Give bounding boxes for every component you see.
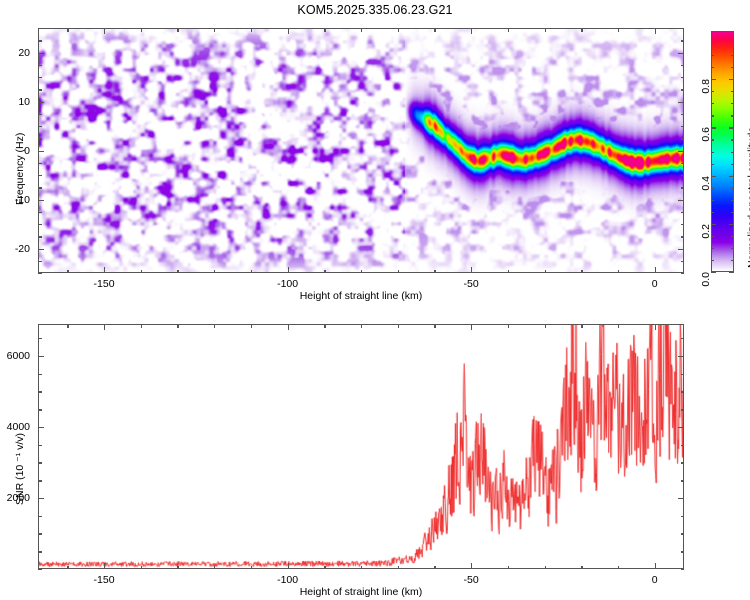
- colorbar-tick-label: 0.4: [700, 176, 712, 191]
- y-minor-tick: [681, 175, 685, 176]
- x-minor-tick: [434, 270, 435, 274]
- y-minor-tick: [681, 445, 685, 446]
- x-tick-label: -150: [94, 574, 115, 586]
- x-minor-tick: [398, 270, 399, 274]
- x-minor-tick: [508, 566, 509, 570]
- x-minor-tick: [434, 566, 435, 570]
- colorbar-minor-tick: [731, 43, 734, 44]
- colorbar-minor-tick: [731, 200, 734, 201]
- x-minor-tick: [251, 270, 252, 274]
- y-major-tick: [678, 249, 684, 250]
- y-minor-tick: [38, 40, 42, 41]
- x-major-tick: [288, 267, 289, 273]
- y-major-tick: [678, 498, 684, 499]
- colorbar-minor-tick: [711, 115, 714, 116]
- x-tick-label: -50: [464, 574, 479, 586]
- y-minor-tick: [681, 551, 685, 552]
- y-major-tick: [678, 53, 684, 54]
- x-minor-tick: [251, 324, 252, 328]
- colorbar-minor-tick: [731, 115, 734, 116]
- y-major-tick: [38, 427, 44, 428]
- y-major-tick: [38, 53, 44, 54]
- colorbar-minor-tick: [711, 43, 714, 44]
- colorbar-tick-label: 0.8: [700, 79, 712, 94]
- y-minor-tick: [681, 126, 685, 127]
- colorbar-minor-tick: [711, 55, 714, 56]
- y-minor-tick: [38, 212, 42, 213]
- x-minor-tick: [545, 566, 546, 570]
- y-minor-tick: [681, 114, 685, 115]
- y-minor-tick: [681, 163, 685, 164]
- y-minor-tick: [38, 480, 42, 481]
- snr-trace: [39, 325, 683, 568]
- y-minor-tick: [38, 551, 42, 552]
- x-major-tick: [288, 28, 289, 34]
- y-minor-tick: [681, 462, 685, 463]
- colorbar-minor-tick: [711, 200, 714, 201]
- colorbar-minor-tick: [731, 139, 734, 140]
- y-minor-tick: [38, 261, 42, 262]
- x-minor-tick: [324, 324, 325, 328]
- y-minor-tick: [681, 65, 685, 66]
- y-minor-tick: [38, 126, 42, 127]
- colorbar-tick-label: 0.2: [700, 224, 712, 239]
- x-tick-label: 0: [652, 278, 658, 290]
- colorbar-major-tick: [729, 127, 734, 128]
- y-minor-tick: [681, 374, 685, 375]
- colorbar-label: Normalized spectral amplitude: [746, 127, 750, 268]
- x-minor-tick: [177, 324, 178, 328]
- x-minor-tick: [618, 270, 619, 274]
- y-minor-tick: [681, 28, 685, 29]
- y-major-tick: [38, 200, 44, 201]
- colorbar-minor-tick: [711, 164, 714, 165]
- y-tick-label: 6000: [7, 350, 30, 362]
- colorbar-minor-tick: [711, 31, 714, 32]
- y-major-tick: [678, 200, 684, 201]
- y-minor-tick: [681, 409, 685, 410]
- colorbar-gradient: [712, 32, 733, 271]
- y-minor-tick: [38, 224, 42, 225]
- colorbar-minor-tick: [711, 103, 714, 104]
- x-minor-tick: [508, 270, 509, 274]
- colorbar-minor-tick: [731, 67, 734, 68]
- y-minor-tick: [38, 163, 42, 164]
- x-minor-tick: [398, 566, 399, 570]
- colorbar-minor-tick: [731, 260, 734, 261]
- y-major-tick: [678, 356, 684, 357]
- x-major-tick: [655, 324, 656, 330]
- x-minor-tick: [214, 28, 215, 32]
- y-minor-tick: [38, 89, 42, 90]
- x-minor-tick: [618, 324, 619, 328]
- y-major-tick: [38, 249, 44, 250]
- x-minor-tick: [214, 566, 215, 570]
- x-major-tick: [104, 563, 105, 569]
- colorbar-major-tick: [729, 272, 734, 273]
- y-minor-tick: [38, 374, 42, 375]
- x-minor-tick: [361, 28, 362, 32]
- x-major-tick: [655, 28, 656, 34]
- spectrogram-plot: [38, 28, 684, 273]
- y-minor-tick: [681, 212, 685, 213]
- y-major-tick: [678, 427, 684, 428]
- x-major-tick: [471, 324, 472, 330]
- x-minor-tick: [434, 324, 435, 328]
- snr-x-axis-label: Height of straight line (km): [300, 586, 423, 598]
- colorbar-minor-tick: [711, 212, 714, 213]
- colorbar-minor-tick: [711, 248, 714, 249]
- x-minor-tick: [545, 270, 546, 274]
- spectrogram-image: [39, 29, 683, 272]
- colorbar-minor-tick: [731, 212, 734, 213]
- x-minor-tick: [324, 270, 325, 274]
- x-tick-label: -100: [277, 574, 298, 586]
- x-tick-label: -150: [94, 278, 115, 290]
- snr-y-axis-label: SNR (10 ⁻¹ v/v): [14, 433, 26, 505]
- colorbar-minor-tick: [731, 164, 734, 165]
- x-tick-label: 0: [652, 574, 658, 586]
- x-minor-tick: [361, 324, 362, 328]
- x-tick-label: -50: [464, 278, 479, 290]
- y-minor-tick: [681, 236, 685, 237]
- x-minor-tick: [434, 28, 435, 32]
- y-minor-tick: [38, 236, 42, 237]
- y-minor-tick: [681, 516, 685, 517]
- x-tick-label: -100: [277, 278, 298, 290]
- y-minor-tick: [38, 187, 42, 188]
- y-minor-tick: [681, 391, 685, 392]
- x-major-tick: [288, 324, 289, 330]
- y-minor-tick: [38, 409, 42, 410]
- y-minor-tick: [681, 261, 685, 262]
- colorbar-minor-tick: [731, 188, 734, 189]
- colorbar-minor-tick: [731, 55, 734, 56]
- x-minor-tick: [361, 270, 362, 274]
- x-minor-tick: [177, 566, 178, 570]
- x-minor-tick: [545, 324, 546, 328]
- y-minor-tick: [38, 65, 42, 66]
- y-major-tick: [678, 151, 684, 152]
- y-minor-tick: [38, 138, 42, 139]
- y-minor-tick: [681, 40, 685, 41]
- y-minor-tick: [38, 445, 42, 446]
- colorbar-minor-tick: [731, 91, 734, 92]
- y-minor-tick: [38, 533, 42, 534]
- x-minor-tick: [324, 28, 325, 32]
- x-major-tick: [471, 28, 472, 34]
- x-minor-tick: [214, 324, 215, 328]
- x-minor-tick: [67, 566, 68, 570]
- y-minor-tick: [681, 89, 685, 90]
- x-minor-tick: [508, 324, 509, 328]
- colorbar-minor-tick: [731, 236, 734, 237]
- x-minor-tick: [508, 28, 509, 32]
- x-major-tick: [471, 563, 472, 569]
- y-minor-tick: [38, 77, 42, 78]
- x-major-tick: [655, 267, 656, 273]
- colorbar-minor-tick: [731, 31, 734, 32]
- y-major-tick: [38, 151, 44, 152]
- colorbar-major-tick: [729, 176, 734, 177]
- x-minor-tick: [141, 324, 142, 328]
- x-minor-tick: [141, 270, 142, 274]
- y-minor-tick: [681, 273, 685, 274]
- y-minor-tick: [681, 533, 685, 534]
- x-major-tick: [104, 28, 105, 34]
- y-minor-tick: [681, 138, 685, 139]
- x-major-tick: [288, 563, 289, 569]
- figure-canvas: KOM5.2025.335.06.23.G21 -150-100-5002010…: [0, 0, 750, 600]
- x-minor-tick: [618, 566, 619, 570]
- x-minor-tick: [581, 270, 582, 274]
- colorbar-minor-tick: [731, 103, 734, 104]
- colorbar-minor-tick: [711, 152, 714, 153]
- colorbar-minor-tick: [711, 67, 714, 68]
- y-minor-tick: [38, 273, 42, 274]
- x-minor-tick: [581, 28, 582, 32]
- y-minor-tick: [681, 77, 685, 78]
- x-minor-tick: [67, 324, 68, 328]
- x-minor-tick: [141, 28, 142, 32]
- colorbar-tick-label: 0.6: [700, 127, 712, 142]
- y-tick-label: 4000: [7, 421, 30, 433]
- colorbar-minor-tick: [731, 152, 734, 153]
- y-tick-label: -20: [15, 243, 30, 255]
- x-major-tick: [471, 267, 472, 273]
- y-tick-label: 10: [18, 96, 30, 108]
- page-title: KOM5.2025.335.06.23.G21: [0, 3, 750, 17]
- y-minor-tick: [38, 338, 42, 339]
- y-minor-tick: [38, 175, 42, 176]
- x-minor-tick: [251, 566, 252, 570]
- y-major-tick: [678, 102, 684, 103]
- x-minor-tick: [67, 270, 68, 274]
- spectrogram-y-axis-label: Frequency (Hz): [14, 133, 26, 205]
- y-minor-tick: [38, 391, 42, 392]
- y-minor-tick: [38, 28, 42, 29]
- y-major-tick: [38, 356, 44, 357]
- y-tick-label: 20: [18, 47, 30, 59]
- y-minor-tick: [681, 338, 685, 339]
- x-minor-tick: [214, 270, 215, 274]
- x-minor-tick: [398, 324, 399, 328]
- x-minor-tick: [251, 28, 252, 32]
- y-major-tick: [38, 498, 44, 499]
- colorbar-major-tick: [729, 79, 734, 80]
- x-major-tick: [655, 563, 656, 569]
- x-minor-tick: [177, 270, 178, 274]
- y-minor-tick: [681, 224, 685, 225]
- y-minor-tick: [38, 516, 42, 517]
- colorbar-minor-tick: [711, 260, 714, 261]
- snr-plot: [38, 324, 684, 569]
- x-minor-tick: [545, 28, 546, 32]
- y-minor-tick: [681, 480, 685, 481]
- x-major-tick: [104, 324, 105, 330]
- y-minor-tick: [681, 569, 685, 570]
- y-minor-tick: [681, 187, 685, 188]
- y-major-tick: [38, 102, 44, 103]
- spectrogram-x-axis-label: Height of straight line (km): [300, 290, 423, 302]
- x-minor-tick: [177, 28, 178, 32]
- x-minor-tick: [618, 28, 619, 32]
- x-minor-tick: [581, 566, 582, 570]
- colorbar-tick-label: 0.0: [700, 272, 712, 287]
- x-minor-tick: [141, 566, 142, 570]
- x-minor-tick: [581, 324, 582, 328]
- y-minor-tick: [38, 114, 42, 115]
- y-minor-tick: [38, 569, 42, 570]
- x-major-tick: [104, 267, 105, 273]
- x-minor-tick: [398, 28, 399, 32]
- x-minor-tick: [361, 566, 362, 570]
- colorbar-minor-tick: [731, 248, 734, 249]
- x-minor-tick: [67, 28, 68, 32]
- y-minor-tick: [38, 462, 42, 463]
- colorbar-major-tick: [729, 224, 734, 225]
- x-minor-tick: [324, 566, 325, 570]
